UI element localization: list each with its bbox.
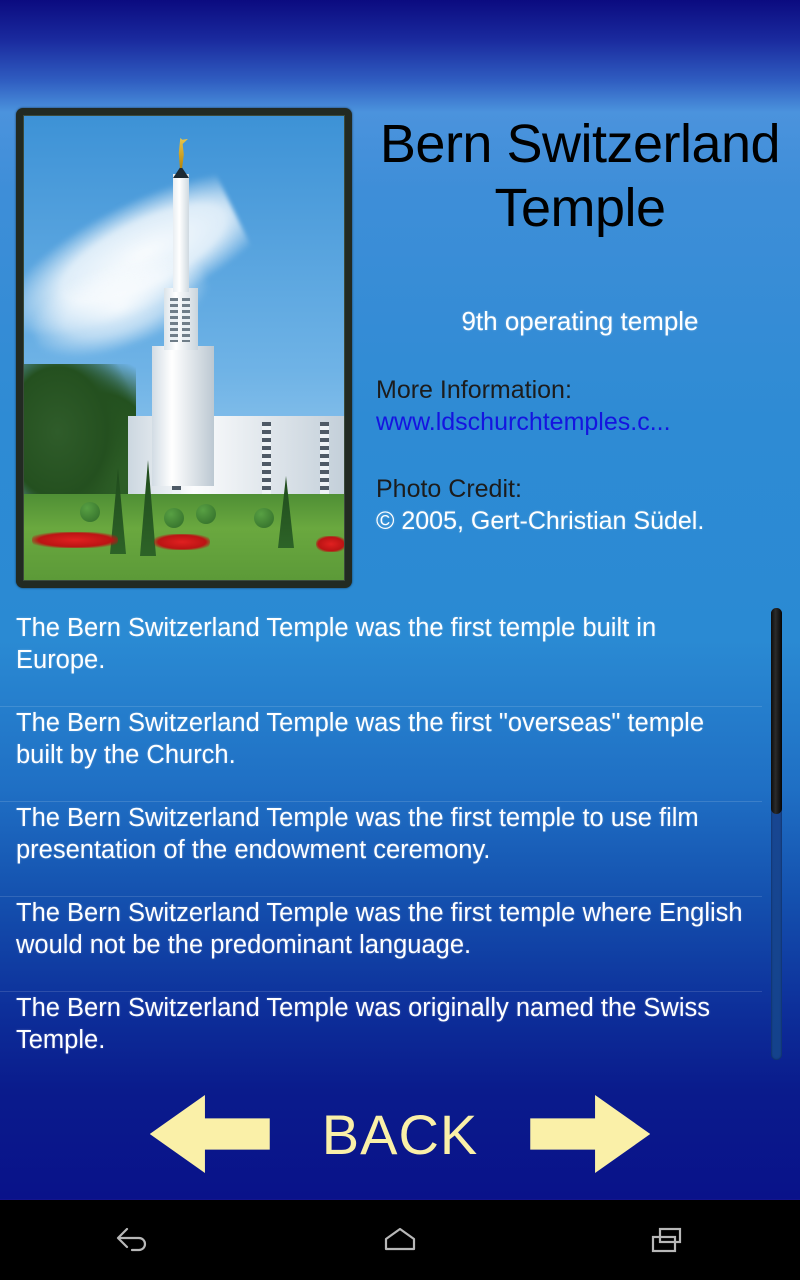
photo-tower-band — [182, 298, 190, 342]
photo-credit-label: Photo Credit: — [376, 474, 796, 505]
list-item[interactable]: The Bern Switzerland Temple was the firs… — [0, 707, 762, 802]
photo-flower-bed — [154, 534, 210, 550]
arrow-right-icon[interactable] — [530, 1095, 650, 1173]
android-system-bar — [0, 1199, 800, 1280]
scrollbar-thumb[interactable] — [771, 608, 782, 814]
photo-shrub — [80, 502, 100, 522]
app-navigation-bar: BACK — [0, 1074, 800, 1194]
photo-shrub — [196, 504, 216, 524]
facts-list[interactable]: The Bern Switzerland Temple was the firs… — [0, 606, 762, 1066]
android-recents-icon[interactable] — [607, 1210, 727, 1270]
photo-flower-bed — [32, 532, 118, 548]
temple-photo-frame[interactable] — [16, 108, 352, 588]
photo-credit-value: © 2005, Gert-Christian Südel. — [376, 505, 796, 538]
list-item[interactable]: The Bern Switzerland Temple was original… — [0, 992, 762, 1066]
facts-scrollbar[interactable] — [771, 608, 782, 1060]
more-information-block: More Information: www.ldschurchtemples.c… — [376, 375, 796, 439]
photo-shrub — [254, 508, 274, 528]
page-title: Bern Switzerland Temple — [368, 112, 792, 240]
temple-header: Bern Switzerland Temple 9th operating te… — [368, 112, 792, 240]
list-item[interactable]: The Bern Switzerland Temple was the firs… — [0, 802, 762, 897]
photo-tower-lower — [152, 346, 214, 486]
list-item[interactable]: The Bern Switzerland Temple was the firs… — [0, 897, 762, 992]
photo-spire — [173, 174, 189, 292]
back-button[interactable]: BACK — [322, 1102, 479, 1167]
photo-credit-block: Photo Credit: © 2005, Gert-Christian Süd… — [376, 474, 796, 538]
arrow-left-icon[interactable] — [150, 1095, 270, 1173]
photo-shrub — [164, 508, 184, 528]
temple-subtitle: 9th operating temple — [368, 306, 792, 337]
photo-flower-bed — [316, 536, 345, 552]
app-screen: Bern Switzerland Temple 9th operating te… — [0, 0, 800, 1280]
android-home-icon[interactable] — [340, 1210, 460, 1270]
more-information-label: More Information: — [376, 375, 796, 406]
more-information-link[interactable]: www.ldschurchtemples.c... — [376, 406, 796, 439]
photo-tower-band — [170, 298, 178, 342]
list-item[interactable]: The Bern Switzerland Temple was the firs… — [0, 606, 762, 707]
android-back-icon[interactable] — [73, 1210, 193, 1270]
temple-photo — [23, 115, 345, 581]
